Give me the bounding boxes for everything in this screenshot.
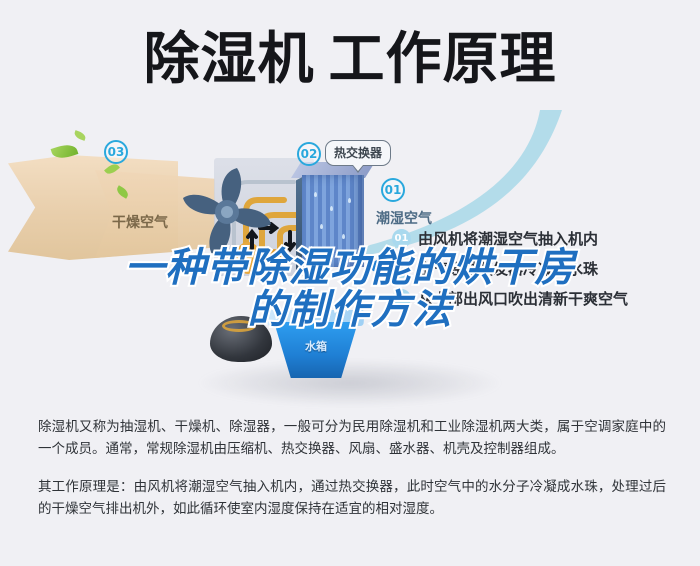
legend-text-03: 从上部出风口吹出清新干爽空气	[418, 288, 628, 309]
legend-list: 01 由风机将潮湿空气抽入机内 02 空气经过蒸发器冷凝成水珠 03 从上部出风…	[392, 228, 692, 318]
badge-03: 03	[104, 140, 128, 164]
page-title-part2: 工作原理	[329, 32, 557, 88]
body-paragraph-1: 除湿机又称为抽湿机、干燥机、除湿器，一般可分为民用除湿机和工业除湿机两大类，属于…	[38, 416, 666, 460]
heat-exchanger-fins	[302, 175, 364, 267]
dry-air-label: 干燥空气	[112, 212, 168, 232]
water-tank-icon: 水箱	[268, 310, 364, 380]
body-copy: 除湿机又称为抽湿机、干燥机、除湿器，一般可分为民用除湿机和工业除湿机两大类，属于…	[38, 416, 666, 520]
page-title-part1: 除湿机	[144, 32, 315, 88]
heat-exchanger-icon	[296, 162, 370, 270]
badge-02: 02	[297, 142, 321, 166]
leaf-icon	[73, 130, 87, 141]
legend-item-02: 02 空气经过蒸发器冷凝成水珠	[392, 258, 692, 279]
body-paragraph-2: 其工作原理是：由风机将潮湿空气抽入机内，通过热交换器，此时空气中的水分子冷凝成水…	[38, 476, 666, 520]
water-tank-label: 水箱	[268, 338, 364, 354]
fan-icon	[175, 160, 280, 265]
legend-item-01: 01 由风机将潮湿空气抽入机内	[392, 228, 692, 249]
compressor-ring-icon	[222, 320, 256, 332]
compressor-drum-icon	[210, 316, 272, 362]
humid-air-label: 潮湿空气	[376, 208, 432, 228]
heat-exchanger-callout: 热交换器	[325, 140, 391, 166]
legend-text-02: 空气经过蒸发器冷凝成水珠	[418, 258, 598, 279]
legend-badge-03: 03	[392, 289, 411, 308]
badge-01: 01	[381, 178, 405, 202]
legend-badge-02: 02	[392, 259, 411, 278]
page-title: 除湿机工作原理	[0, 32, 700, 88]
legend-item-03: 03 从上部出风口吹出清新干爽空气	[392, 288, 692, 309]
legend-text-01: 由风机将潮湿空气抽入机内	[418, 228, 598, 249]
legend-badge-01: 01	[392, 229, 411, 248]
